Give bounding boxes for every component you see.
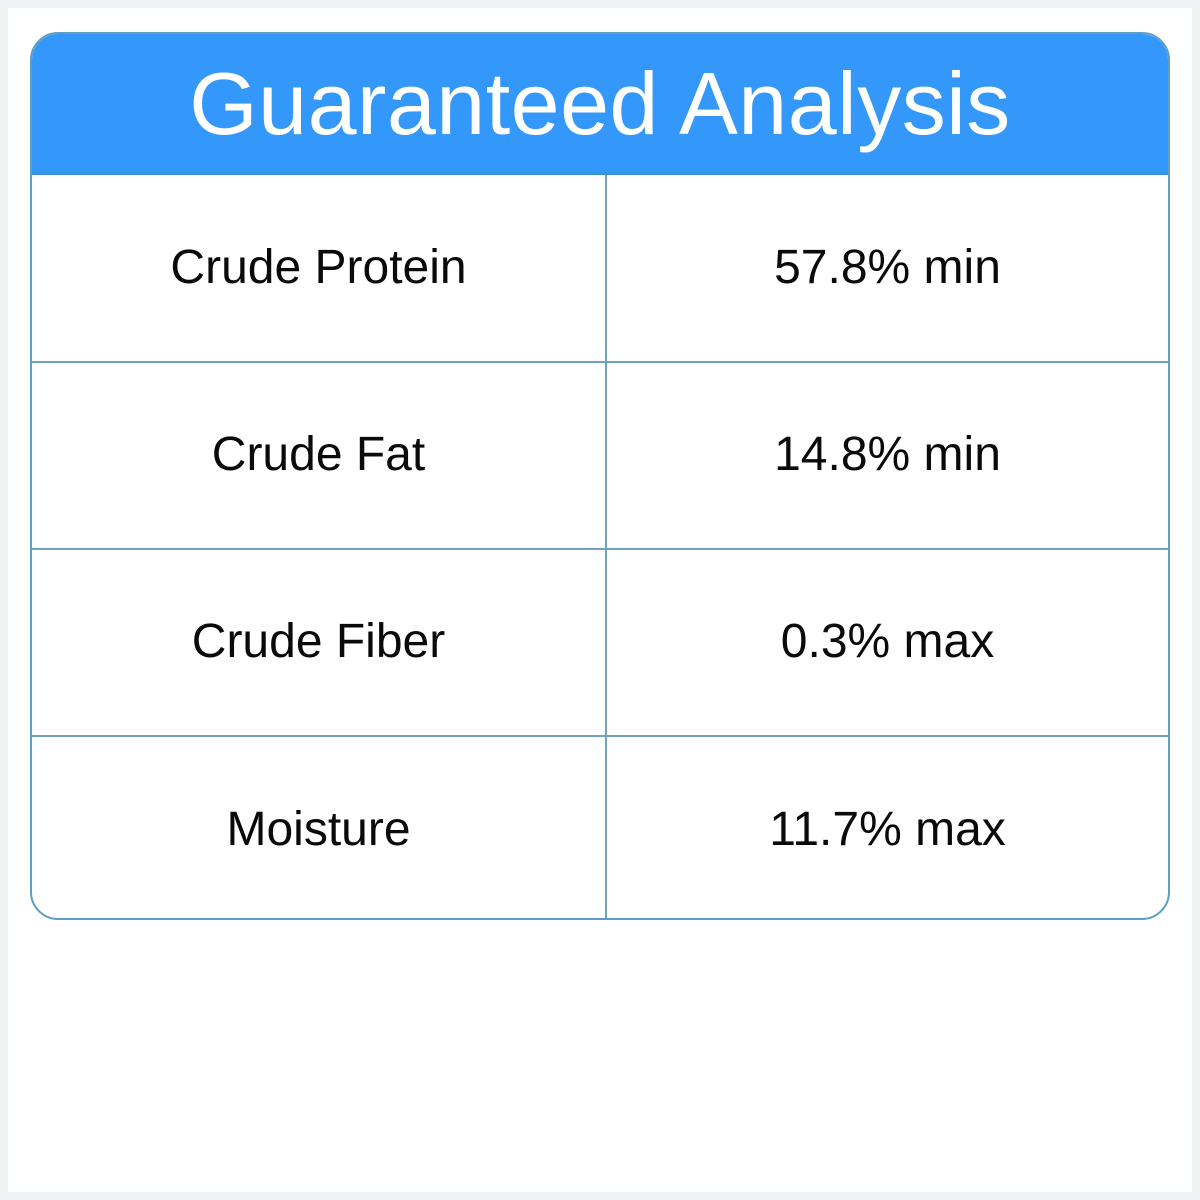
guaranteed-analysis-card: Guaranteed Analysis Crude Protein 57.8% …: [30, 32, 1170, 920]
nutrient-amount: 11.7% max: [606, 736, 1168, 920]
table-row: Crude Protein 57.8% min: [32, 175, 1168, 362]
nutrient-label: Crude Fiber: [32, 549, 606, 736]
table-body: Crude Protein 57.8% min Crude Fat 14.8% …: [32, 175, 1168, 920]
guaranteed-analysis-table: Crude Protein 57.8% min Crude Fat 14.8% …: [32, 175, 1168, 920]
table-row: Crude Fat 14.8% min: [32, 362, 1168, 549]
nutrient-amount: 57.8% min: [606, 175, 1168, 362]
page-frame: Guaranteed Analysis Crude Protein 57.8% …: [8, 8, 1192, 1192]
table-row: Moisture 11.7% max: [32, 736, 1168, 920]
nutrient-label: Moisture: [32, 736, 606, 920]
nutrient-label: Crude Fat: [32, 362, 606, 549]
card-header: Guaranteed Analysis: [32, 34, 1168, 175]
nutrient-amount: 0.3% max: [606, 549, 1168, 736]
table-row: Crude Fiber 0.3% max: [32, 549, 1168, 736]
nutrient-label: Crude Protein: [32, 175, 606, 362]
page-title: Guaranteed Analysis: [189, 60, 1011, 148]
nutrient-amount: 14.8% min: [606, 362, 1168, 549]
